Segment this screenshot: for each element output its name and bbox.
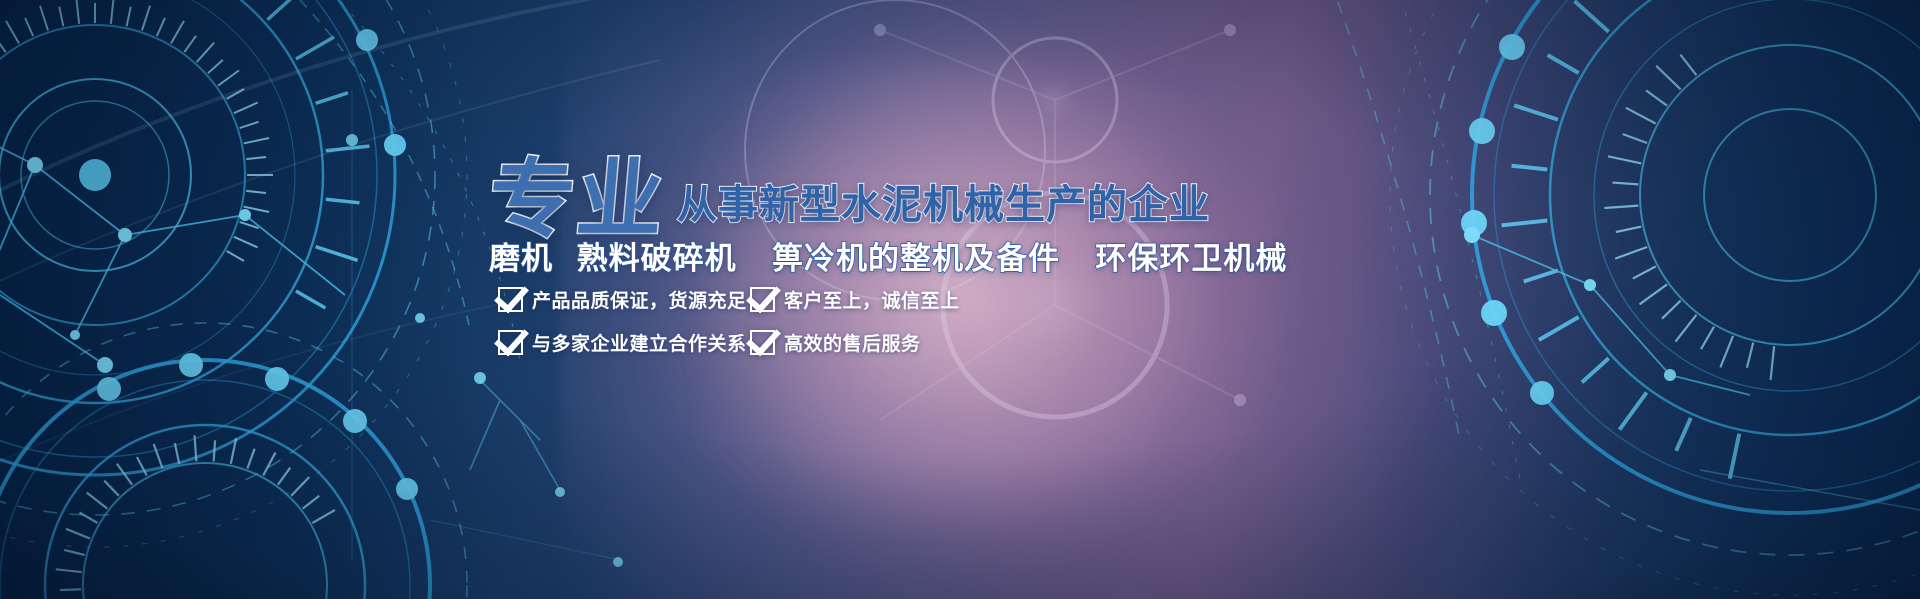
- vignette-overlay: [0, 0, 1920, 599]
- hero-banner: 专业 从事新型水泥机械生产的企业 磨机 熟料破碎机 箅冷机的整机及备件 环保环卫…: [0, 0, 1920, 599]
